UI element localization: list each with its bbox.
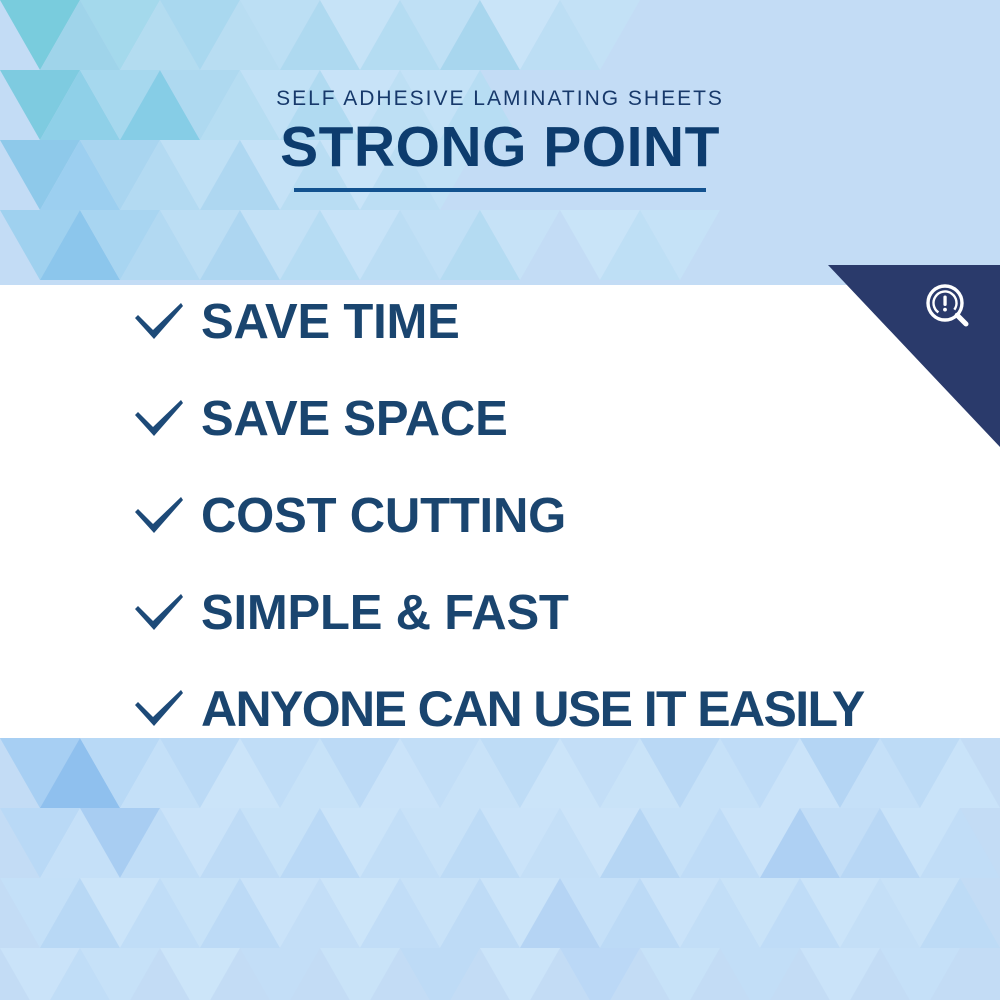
page-title: STRONG POINT [0,119,1000,176]
magnifier-exclamation-icon [923,281,975,333]
poster-canvas: SELF ADHESIVE LAMINATING SHEETS STRONG P… [0,0,1000,1000]
list-item-label: ANYONE CAN USE IT EASILY [201,684,864,734]
poster-header: SELF ADHESIVE LAMINATING SHEETS STRONG P… [0,88,1000,192]
title-underline-rule [294,188,706,192]
list-item-label: SIMPLE & FAST [201,589,569,638]
list-item: COST CUTTING [134,486,566,546]
list-item: SAVE TIME [134,292,460,352]
check-icon [134,687,184,731]
check-icon [134,300,184,344]
list-item: SIMPLE & FAST [134,583,569,643]
header-eyebrow: SELF ADHESIVE LAMINATING SHEETS [0,88,1000,109]
list-item-label: SAVE SPACE [201,395,508,444]
check-icon [134,591,184,635]
list-item: SAVE SPACE [134,389,508,449]
benefits-list: SAVE TIME SAVE SPACE COST CUTTING [0,285,1000,738]
check-icon [134,397,184,441]
list-item-label: COST CUTTING [201,492,566,541]
list-item: ANYONE CAN USE IT EASILY [134,679,864,739]
list-item-label: SAVE TIME [201,298,460,347]
check-icon [134,494,184,538]
